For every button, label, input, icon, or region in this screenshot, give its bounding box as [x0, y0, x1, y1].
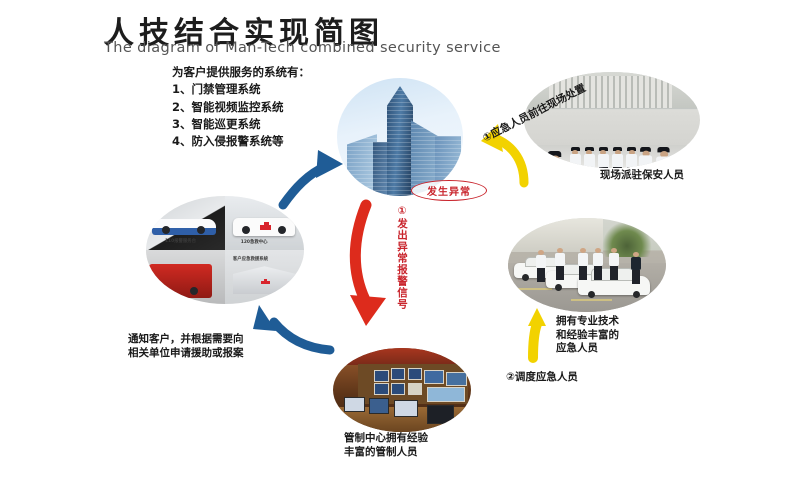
label-step1-alarm-signal: ①发出异常报警信号 [396, 205, 407, 310]
diagram-canvas: 人技结合实现简图 The diagram of Man-Tech combine… [0, 0, 802, 477]
control-room-photo [333, 348, 471, 432]
arrow-yellow-dispatch-staff [528, 308, 546, 358]
skyscrapers-photo [337, 78, 463, 196]
label-step2-dispatch-staff: ②调度应急人员 [506, 370, 578, 384]
page-subtitle: The diagram of Man-Tech combined securit… [104, 40, 501, 56]
emergency-vehicles-photo: 110报警服务台 120急救中心 客户应急救援系统 [146, 196, 304, 304]
abnormal-event-tag: 发生异常 [411, 180, 487, 201]
label-shelter-system: 客户应急救援系统 [233, 256, 268, 262]
caption-guards: 现场派驻保安人员 [600, 168, 684, 182]
security-guards-photo [524, 72, 700, 168]
systems-list: 为客户提供服务的系统有： 1、门禁管理系统 2、智能视频监控系统 3、智能巡更系… [172, 64, 310, 150]
label-police-hotline: 110报警服务台 [165, 238, 196, 244]
arrow-red-alarm-signal [350, 205, 386, 326]
caption-notify-client: 通知客户，并根据需要向 相关单位申请援助或报案 [128, 332, 244, 360]
label-ambulance-center: 120急救中心 [241, 239, 268, 245]
patrol-cars-photo [508, 218, 666, 312]
caption-emergency-staff: 拥有专业技术 和经验丰富的 应急人员 [556, 315, 619, 356]
caption-control-center: 管制中心拥有经验 丰富的管制人员 [344, 432, 428, 459]
arrow-blue-to-notify [253, 305, 330, 350]
